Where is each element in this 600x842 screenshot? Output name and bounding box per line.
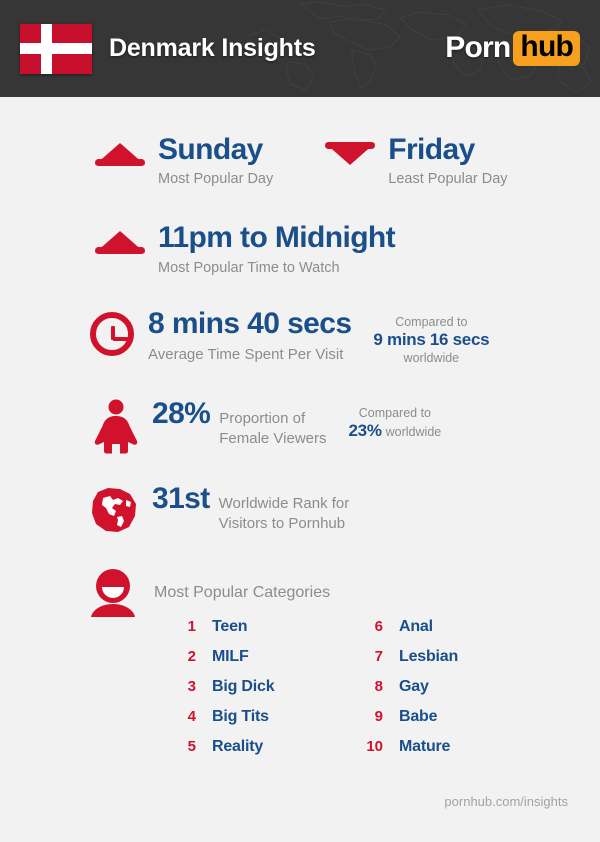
category-name: Babe (399, 708, 437, 726)
category-rank: 10 (357, 738, 383, 755)
globe-icon (90, 486, 138, 534)
insights-body: Sunday Most Popular Day Friday Least Pop… (0, 97, 600, 842)
worldwide-rank-label-line2: Visitors to Pornhub (219, 514, 350, 534)
list-item[interactable]: 4 Big Tits (170, 708, 274, 738)
triangle-up-icon (95, 231, 145, 253)
logo-hub-text: hub (513, 31, 580, 65)
female-icon (92, 399, 140, 454)
most-popular-day-label: Most Popular Day (158, 169, 273, 189)
list-item[interactable]: 7 Lesbian (357, 648, 458, 678)
worldwide-label: worldwide (373, 350, 489, 366)
average-time-value: 8 mins 40 secs (148, 309, 351, 339)
most-popular-day-block: Sunday Most Popular Day (95, 135, 273, 189)
categories-heading-row: Most Popular Categories (88, 569, 330, 617)
clock-icon (90, 312, 134, 356)
category-rank: 1 (170, 618, 196, 635)
popular-time-label: Most Popular Time to Watch (158, 258, 395, 278)
average-time-row: 8 mins 40 secs Average Time Spent Per Vi… (90, 309, 489, 366)
category-name: Big Dick (212, 678, 274, 696)
logo-porn-text: Porn (445, 31, 510, 65)
categories-column-right: 6 Anal 7 Lesbian 8 Gay 9 Babe 10 Mature (357, 618, 458, 768)
category-name: Mature (399, 738, 450, 756)
category-name: Anal (399, 618, 433, 636)
page-header: Denmark Insights Porn hub (0, 0, 600, 97)
least-popular-day-label: Least Popular Day (388, 169, 507, 189)
popular-time-value: 11pm to Midnight (158, 223, 395, 252)
footer-url[interactable]: pornhub.com/insights (444, 794, 568, 809)
list-item[interactable]: 5 Reality (170, 738, 274, 768)
category-name: Reality (212, 738, 263, 756)
category-rank: 9 (357, 708, 383, 725)
category-rank: 2 (170, 648, 196, 665)
triangle-up-icon (95, 143, 145, 165)
worldwide-label: worldwide (386, 425, 442, 439)
category-rank: 6 (357, 618, 383, 635)
list-item[interactable]: 6 Anal (357, 618, 458, 648)
category-name: Teen (212, 618, 247, 636)
denmark-flag-icon (20, 24, 92, 74)
list-item[interactable]: 9 Babe (357, 708, 458, 738)
list-item[interactable]: 8 Gay (357, 678, 458, 708)
female-viewers-label-line1: Proportion of (219, 409, 326, 429)
average-time-worldwide-value: 9 mins 16 secs (373, 330, 489, 350)
page-title: Denmark Insights (109, 34, 316, 63)
category-rank: 3 (170, 678, 196, 695)
category-rank: 8 (357, 678, 383, 695)
list-item[interactable]: 2 MILF (170, 648, 274, 678)
category-name: Gay (399, 678, 429, 696)
least-popular-day-block: Friday Least Popular Day (325, 135, 507, 189)
triangle-down-icon (325, 143, 375, 165)
list-item[interactable]: 10 Mature (357, 738, 458, 768)
average-time-compare: Compared to 9 mins 16 secs worldwide (373, 314, 489, 366)
category-name: Lesbian (399, 648, 458, 666)
compare-to-label: Compared to (349, 405, 442, 421)
category-rank: 4 (170, 708, 196, 725)
person-icon (88, 569, 138, 617)
popular-time-row: 11pm to Midnight Most Popular Time to Wa… (95, 223, 395, 278)
female-viewers-value: 28% (152, 399, 210, 429)
categories-heading: Most Popular Categories (154, 583, 330, 603)
category-rank: 7 (357, 648, 383, 665)
pornhub-logo[interactable]: Porn hub (445, 31, 580, 65)
least-popular-day-value: Friday (388, 135, 507, 164)
worldwide-rank-row: 31st Worldwide Rank for Visitors to Porn… (90, 484, 349, 534)
female-viewers-compare: Compared to 23%worldwide (349, 405, 442, 441)
categories-column-left: 1 Teen 2 MILF 3 Big Dick 4 Big Tits 5 Re… (170, 618, 274, 768)
worldwide-rank-label-line1: Worldwide Rank for (219, 494, 350, 514)
female-viewers-label-line2: Female Viewers (219, 429, 326, 449)
category-name: Big Tits (212, 708, 269, 726)
category-name: MILF (212, 648, 249, 666)
female-viewers-row: 28% Proportion of Female Viewers Compare… (92, 399, 441, 454)
worldwide-rank-value: 31st (152, 484, 210, 514)
average-time-label: Average Time Spent Per Visit (148, 345, 351, 365)
compare-to-label: Compared to (373, 314, 489, 330)
list-item[interactable]: 3 Big Dick (170, 678, 274, 708)
list-item[interactable]: 1 Teen (170, 618, 274, 648)
most-popular-day-value: Sunday (158, 135, 273, 164)
category-rank: 5 (170, 738, 196, 755)
female-viewers-worldwide-value: 23% (349, 421, 382, 440)
popular-days-row: Sunday Most Popular Day Friday Least Pop… (95, 135, 508, 189)
